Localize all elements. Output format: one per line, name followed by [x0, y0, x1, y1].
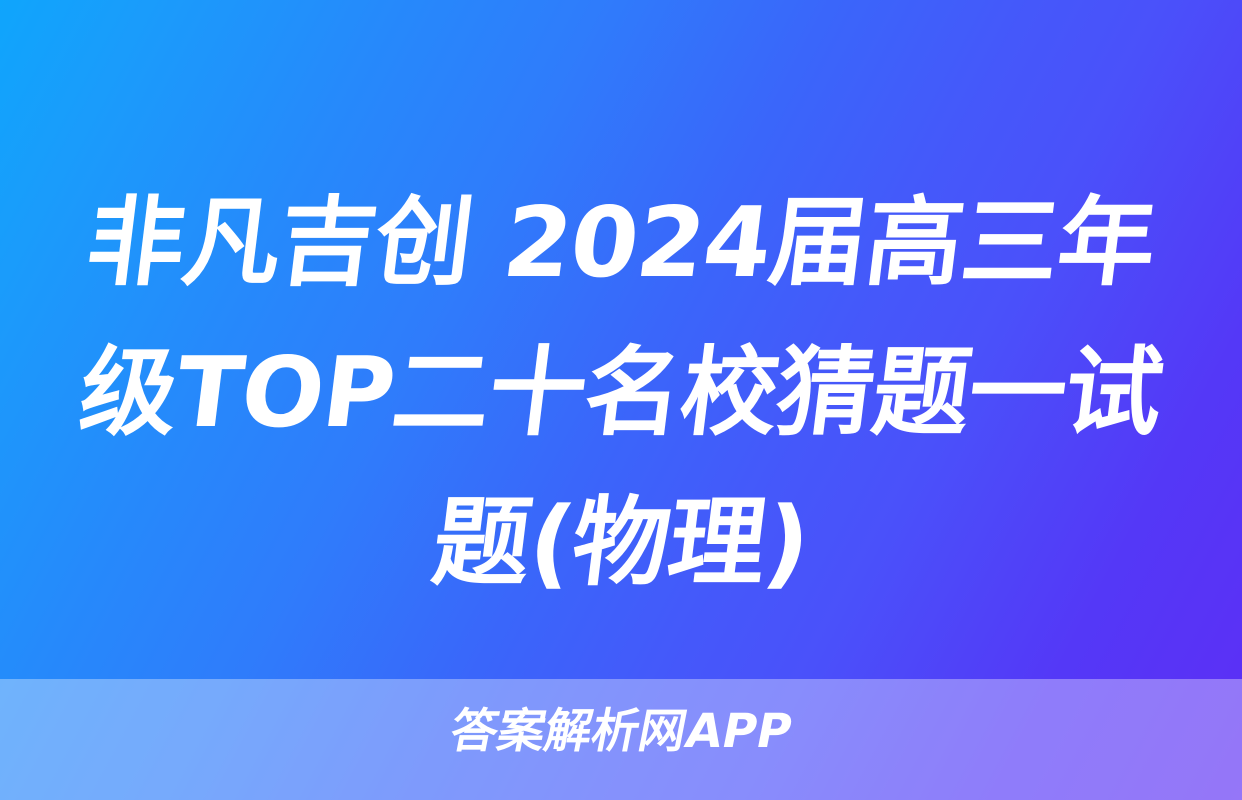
title-line-3: 题(物理): [53, 468, 1189, 618]
watermark-label: 答案解析网APP: [445, 702, 797, 762]
title-line-1: 非凡吉创 2024届高三年: [53, 168, 1189, 318]
watermark: 答案解析网APP: [0, 702, 1242, 762]
cover-title: 非凡吉创 2024届高三年 级TOP二十名校猜题一试 题(物理): [62, 168, 1180, 618]
cover-image: 非凡吉创 2024届高三年 级TOP二十名校猜题一试 题(物理) 答案解析网AP…: [0, 0, 1242, 800]
title-line-2: 级TOP二十名校猜题一试: [53, 318, 1189, 468]
